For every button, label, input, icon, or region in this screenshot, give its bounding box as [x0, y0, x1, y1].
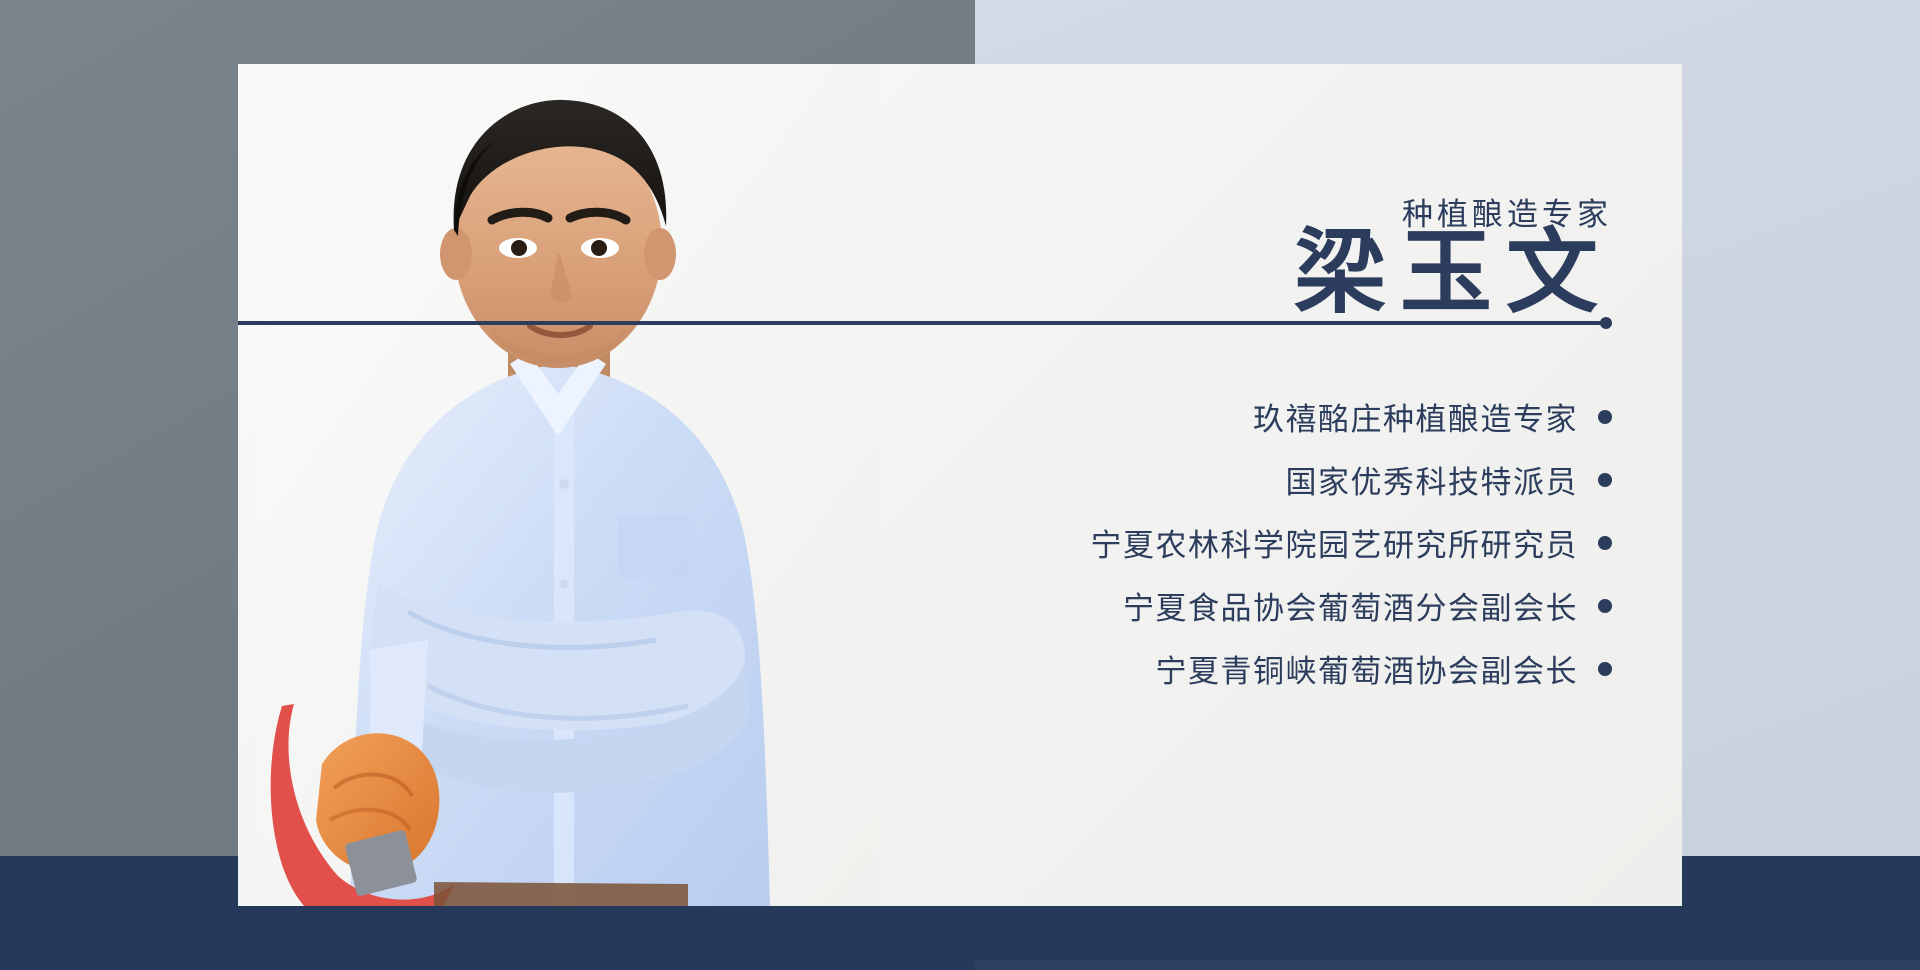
bullet-dot-icon: [1598, 599, 1612, 613]
divider-dot-icon: [1600, 317, 1612, 329]
page-title: 梁玉文: [1280, 219, 1612, 328]
list-item: 宁夏青铜峡葡萄酒协会副会长: [712, 641, 1612, 696]
credential-label: 宁夏农林科学院园艺研究所研究员: [1091, 520, 1579, 565]
credential-label: 玖禧酩庄种植酿造专家: [1253, 394, 1578, 439]
bullet-dot-icon: [1598, 473, 1612, 487]
credentials-list: 玖禧酩庄种植酿造专家 国家优秀科技特派员 宁夏农林科学院园艺研究所研究员 宁夏食…: [712, 389, 1612, 704]
credential-label: 宁夏青铜峡葡萄酒协会副会长: [1156, 646, 1579, 691]
list-item: 宁夏食品协会葡萄酒分会副会长: [712, 578, 1612, 633]
background-navy-strip: [975, 960, 1920, 970]
list-item: 玖禧酩庄种植酿造专家: [712, 389, 1612, 444]
credential-label: 宁夏食品协会葡萄酒分会副会长: [1123, 583, 1578, 628]
divider-line: [238, 321, 1603, 325]
bullet-dot-icon: [1598, 410, 1612, 424]
list-item: 国家优秀科技特派员: [712, 452, 1612, 507]
divider-rule: [238, 317, 1612, 329]
profile-card: 种植酿造专家 梁玉文 玖禧酩庄种植酿造专家 国家优秀科技特派员 宁夏农林科学院园…: [238, 64, 1682, 906]
bullet-dot-icon: [1598, 536, 1612, 550]
poster-stage: 种植酿造专家 梁玉文 玖禧酩庄种植酿造专家 国家优秀科技特派员 宁夏农林科学院园…: [0, 0, 1920, 970]
list-item: 宁夏农林科学院园艺研究所研究员: [712, 515, 1612, 570]
credential-label: 国家优秀科技特派员: [1286, 457, 1579, 502]
profile-text-column: 种植酿造专家 梁玉文 玖禧酩庄种植酿造专家 国家优秀科技特派员 宁夏农林科学院园…: [712, 64, 1612, 906]
bullet-dot-icon: [1598, 662, 1612, 676]
